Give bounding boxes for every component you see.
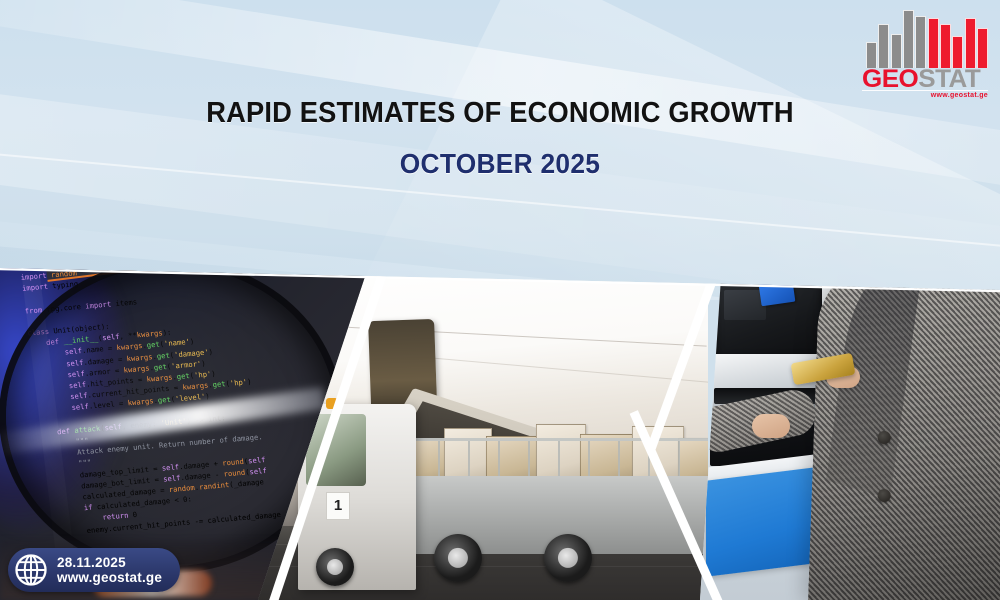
fuselage-seam — [409, 356, 708, 383]
date-url-badge[interactable]: 28.11.2025 www.geostat.ge — [8, 548, 180, 592]
logo-bar — [977, 28, 988, 68]
badge-date: 28.11.2025 — [57, 555, 162, 570]
logo-bar — [878, 24, 889, 68]
logo-bar — [952, 36, 963, 68]
logo-bar — [940, 24, 951, 68]
logo-word-geo: GEO — [862, 65, 918, 93]
logo-bar — [965, 18, 976, 68]
logo-bar-chart-icon — [866, 8, 988, 68]
logo-bar — [891, 34, 902, 68]
page-title: RAPID ESTIMATES OF ECONOMIC GROWTH — [30, 98, 970, 128]
beacon-light — [326, 398, 338, 409]
logo-word-stat: STAT — [918, 65, 980, 93]
logo-url: www.geostat.ge — [931, 92, 988, 99]
logo-divider — [862, 90, 988, 91]
dolly-wheel — [544, 534, 592, 582]
loader-number: 1 — [326, 492, 350, 520]
publication-cover: RAPID ESTIMATES OF ECONOMIC GROWTH OCTOB… — [0, 0, 1000, 600]
header-banner: RAPID ESTIMATES OF ECONOMIC GROWTH OCTOB… — [0, 0, 1000, 300]
logo-bar — [915, 16, 926, 68]
page-subtitle: OCTOBER 2025 — [30, 148, 970, 180]
hand-at-tray — [752, 414, 790, 438]
blazer-button — [877, 489, 890, 502]
globe-icon — [14, 553, 48, 587]
person-blazer — [808, 262, 1000, 600]
title-block: RAPID ESTIMATES OF ECONOMIC GROWTH OCTOB… — [0, 98, 1000, 180]
badge-url: www.geostat.ge — [57, 570, 162, 585]
badge-text: 28.11.2025 www.geostat.ge — [57, 555, 162, 585]
panel-atm-banking — [700, 262, 1000, 600]
geostat-logo[interactable]: GEOSTAT www.geostat.ge — [860, 8, 990, 103]
loader-wheel — [316, 548, 354, 586]
logo-bar — [928, 18, 939, 68]
dolly-wheel — [434, 534, 482, 582]
logo-wordmark: GEOSTAT — [862, 66, 995, 92]
logo-bar — [903, 10, 914, 68]
